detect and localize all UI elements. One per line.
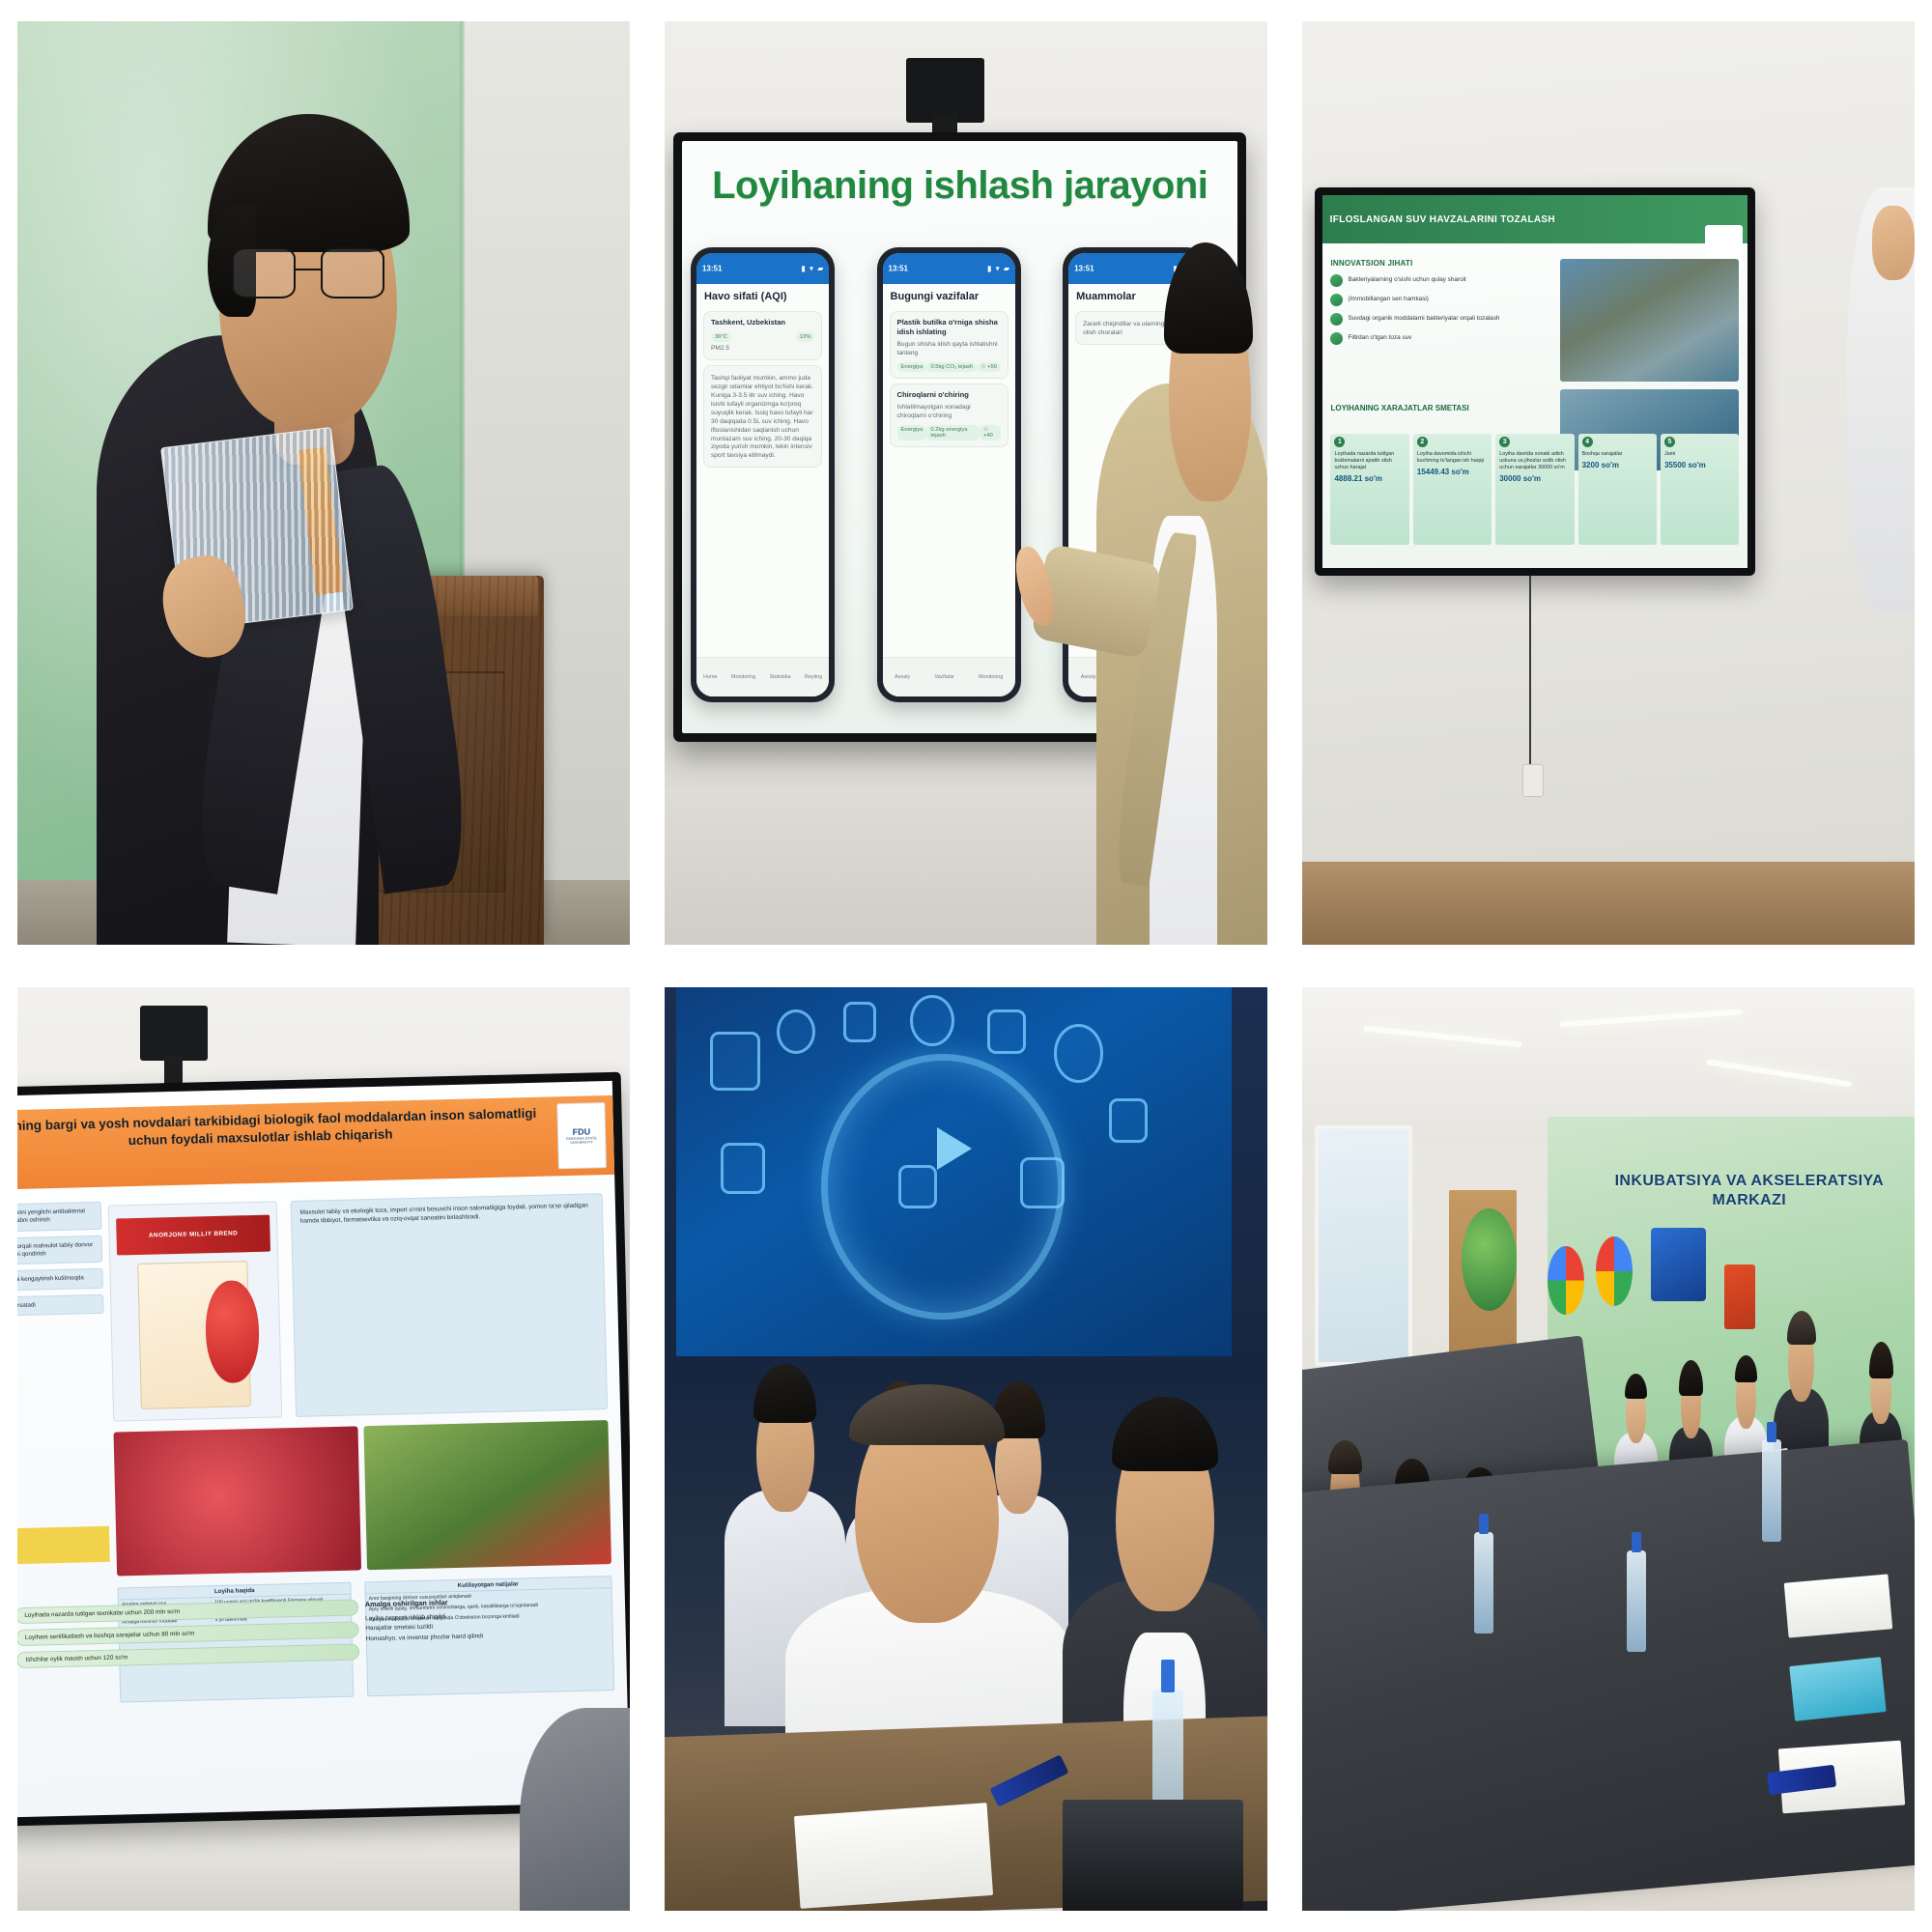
background-display bbox=[676, 987, 1231, 1356]
brand-banner: ANORJON® MILLIY BREND bbox=[116, 1214, 270, 1255]
phone-status-bar: 13:51 ▮ ▾ ▰ bbox=[696, 253, 829, 284]
budget-pill-text: Loyihada nazarda tutilgan texnikalar uch… bbox=[17, 1599, 358, 1624]
left-info-block: Tabiiy tozaomuhietni yengilchi antibakte… bbox=[17, 1201, 102, 1232]
task-title: Plastik butilka o'rniga shisha idish ish… bbox=[897, 318, 1001, 338]
glasses-lens-left bbox=[232, 247, 297, 298]
innovation-item-text: Filtrdan o'tgan toza suv bbox=[1348, 334, 1411, 342]
status-icons: ▮ ▾ ▰ bbox=[987, 265, 1010, 273]
cost-step: 4 Boshqa xarajatlar 3200 so'm bbox=[1578, 434, 1657, 546]
step-label: Loyiha davomida ishchi kuchining to'lang… bbox=[1417, 451, 1488, 465]
innovation-item: Bakteriyalarning o'sishi uchun qulay sha… bbox=[1330, 274, 1551, 287]
chip-savings: 0.2kg energiya tejash bbox=[926, 425, 980, 440]
product-image-box: ANORJON® MILLIY BREND bbox=[108, 1201, 282, 1421]
slide-header-text: IFLOSLANGAN SUV HAVZALARINI TOZALASH bbox=[1330, 214, 1555, 225]
step-number: 4 bbox=[1582, 437, 1593, 447]
budget-pill-text: Ishchilar oylik maosh uchun 120 so'm bbox=[17, 1643, 359, 1668]
aqi-advice-card: Tashqi faoliyat mumkin, ammo juda sezgir… bbox=[703, 365, 822, 468]
budget-pill-text: Loyihani sertifikatlash va boshqa xaraja… bbox=[17, 1621, 359, 1646]
collage-cell-3: IFLOSLANGAN SUV HAVZALARINI TOZALASH INN… bbox=[1285, 0, 1932, 966]
left-info-block: Amalga oshirish orqali mahsulot tabiiy d… bbox=[17, 1235, 103, 1265]
nav-item-home[interactable]: Home bbox=[703, 674, 717, 680]
laptop bbox=[1063, 1800, 1243, 1911]
budget-pill-list: Loyihada nazarda tutilgan texnikalar uch… bbox=[17, 1599, 363, 1795]
paper-sheet bbox=[794, 1803, 993, 1908]
collage-cell-5 bbox=[647, 966, 1285, 1932]
chrome-logo-icon bbox=[1548, 1246, 1584, 1316]
presenter-pointing bbox=[1038, 206, 1267, 945]
leaf-logo-icon bbox=[1462, 1208, 1517, 1310]
step-number: 3 bbox=[1499, 437, 1510, 447]
partial-hand-right bbox=[1872, 206, 1915, 279]
pomegranate-icon bbox=[205, 1279, 261, 1383]
left-info-column: Tabiiy tozaomuhietni yengilchi antibakte… bbox=[17, 1201, 110, 1565]
step-label: Boshqa xarajatlar bbox=[1582, 451, 1653, 458]
interior-window bbox=[1315, 1125, 1412, 1366]
step-number: 2 bbox=[1417, 437, 1428, 447]
left-info-block: Ishlab chiqarishni kengaytirish kutilmoq… bbox=[17, 1268, 103, 1292]
slide-title: Loyihaning ishlash jarayoni bbox=[682, 164, 1237, 208]
task-subtitle: Ishlatilmayotgan xonadagi chiroqlarni o'… bbox=[897, 404, 1001, 421]
slide-header-bar: IFLOSLANGAN SUV HAVZALARINI TOZALASH bbox=[1322, 195, 1747, 243]
yellow-highlight-band bbox=[17, 1525, 110, 1565]
innovation-item-text: Bakteriyalarning o'sishi uchun qulay sha… bbox=[1348, 276, 1465, 284]
collage-cell-1 bbox=[0, 0, 647, 966]
collage-cell-6: INKUBATSIYA VA AKSELERATSIYA MARKAZI bbox=[1285, 966, 1932, 1932]
camera-icon bbox=[710, 1032, 760, 1091]
status-time: 13:51 bbox=[889, 265, 908, 273]
glow-ring-decoration bbox=[821, 1054, 1065, 1320]
wall-banner-text: INKUBATSIYA VA AKSELERATSIYA MARKAZI bbox=[1596, 1172, 1902, 1264]
task-card-2[interactable]: Chiroqlarni o'chiring Ishlatilmayotgan x… bbox=[890, 384, 1009, 447]
step-number: 5 bbox=[1664, 437, 1675, 447]
chip-energy: Energiya bbox=[897, 362, 927, 372]
chip-points-star-icon: ☆ +50 bbox=[977, 362, 1001, 372]
blue-folder bbox=[1789, 1657, 1887, 1721]
phone-status-bar: 13:51 ▮ ▾ ▰ bbox=[883, 253, 1015, 284]
nav-item-stats[interactable]: Statistika bbox=[770, 674, 791, 680]
product-photos bbox=[114, 1420, 611, 1577]
step-value: 35500 so'm bbox=[1664, 461, 1735, 469]
nav-item-rating[interactable]: Reyting bbox=[805, 674, 822, 680]
photo-collage: Loyihaning ishlash jarayoni 13:51 ▮ ▾ ▰ … bbox=[0, 0, 1932, 1932]
innovation-section: INNOVATSION JIHATI Bakteriyalarning o'si… bbox=[1330, 259, 1551, 345]
task-card-1[interactable]: Plastik butilka o'rniga shisha idish ish… bbox=[890, 311, 1009, 379]
www-logo-icon bbox=[1651, 1228, 1706, 1301]
cost-steps: 1 Loyihada nazarda tutilgan buklemalarni… bbox=[1330, 434, 1739, 546]
aqi-location: Tashkent, Uzbekistan bbox=[711, 318, 814, 327]
logo-subtitle: FERGANA STATE UNIVERSITY bbox=[558, 1136, 606, 1145]
seated-hair bbox=[1328, 1440, 1362, 1474]
innovation-item: (Immobillangan sen hamkasi) bbox=[1330, 294, 1551, 306]
clean-water-icon bbox=[1330, 332, 1343, 345]
step-value: 30000 so'm bbox=[1499, 474, 1570, 483]
logo-initials: FDU bbox=[572, 1126, 590, 1136]
wrench-icon bbox=[721, 1143, 765, 1195]
photo-speaker-at-podium bbox=[17, 21, 630, 945]
phone-mockup-aqi: 13:51 ▮ ▾ ▰ Havo sifati (AQI) Tashkent, … bbox=[691, 247, 835, 702]
wall-socket bbox=[1522, 764, 1544, 797]
glasses-lens-right bbox=[321, 247, 385, 298]
cost-step-total: 5 Jami 35500 so'm bbox=[1661, 434, 1739, 546]
nav-item-monitoring[interactable]: Monitoring bbox=[979, 674, 1003, 680]
document-icon bbox=[843, 1002, 876, 1042]
pomegranate-tea-photo bbox=[114, 1426, 361, 1576]
phone-screen: 13:51 ▮ ▾ ▰ Bugungi vazifalar Plastik bu… bbox=[883, 253, 1015, 696]
presenter-hair bbox=[1787, 1311, 1816, 1345]
pomegranate-tree-photo bbox=[363, 1420, 611, 1570]
cost-step: 3 Loyiha davrida xonaki adish uskuna va … bbox=[1495, 434, 1574, 546]
step-label: Jami bbox=[1664, 451, 1735, 458]
bacteria-icon bbox=[1330, 274, 1343, 287]
step-value: 15449.43 so'm bbox=[1417, 468, 1488, 476]
screen-ceiling-mount bbox=[906, 58, 984, 123]
attendee-hair bbox=[1735, 1355, 1757, 1382]
chip-points-star-icon: ☆ +40 bbox=[980, 425, 1001, 440]
aqi-card: Tashkent, Uzbekistan 36°C 12% PM2.5 bbox=[703, 311, 822, 360]
step-label: Loyiha davrida xonaki adish uskuna va ji… bbox=[1499, 451, 1570, 471]
jury-hair bbox=[849, 1384, 1006, 1445]
wall-display-frame: IFLOSLANGAN SUV HAVZALARINI TOZALASH INN… bbox=[1315, 187, 1755, 576]
nav-item-main[interactable]: Asosiy bbox=[895, 674, 910, 680]
presentation-display: Anorning bargi va yosh novdalari tarkibi… bbox=[17, 1080, 630, 1817]
cost-section-title: LOYIHANING XARAJATLAR SMETASI bbox=[1330, 404, 1468, 412]
task-subtitle: Bugun shisha idish qayta ishlatishni tan… bbox=[897, 341, 1001, 358]
circle-icon bbox=[910, 995, 954, 1047]
wooden-floor bbox=[1302, 862, 1915, 945]
innovation-item-text: (Immobillangan sen hamkasi) bbox=[1348, 296, 1428, 303]
attendee-hair bbox=[1625, 1374, 1647, 1400]
innovation-item: Filtrdan o'tgan toza suv bbox=[1330, 332, 1551, 345]
water-bottle bbox=[1762, 1439, 1781, 1541]
document-tab bbox=[298, 447, 342, 596]
step-value: 4888.21 so'm bbox=[1334, 474, 1405, 483]
paper-sheet bbox=[1784, 1574, 1892, 1638]
photo-water-purification-slide: IFLOSLANGAN SUV HAVZALARINI TOZALASH INN… bbox=[1302, 21, 1915, 945]
wall-display: IFLOSLANGAN SUV HAVZALARINI TOZALASH INN… bbox=[1322, 195, 1747, 568]
task-chips: Energiya 0.2kg energiya tejash ☆ +40 bbox=[897, 425, 1001, 440]
play-icon bbox=[937, 1127, 972, 1170]
globe-icon bbox=[1054, 1024, 1104, 1083]
phone-screen: 13:51 ▮ ▾ ▰ Havo sifati (AQI) Tashkent, … bbox=[696, 253, 829, 696]
left-info-block: Ilmiy ishlarini ko'rsatadi bbox=[17, 1293, 104, 1317]
glasses-bridge bbox=[296, 269, 320, 270]
budget-pill: Loyihani sertifikatlash va boshqa xaraja… bbox=[17, 1621, 359, 1646]
phone-header-aqi: Havo sifati (AQI) bbox=[696, 284, 829, 306]
task-title: Chiroqlarni o'chiring bbox=[897, 390, 1001, 400]
droplet-icon bbox=[1330, 294, 1343, 306]
status-icons: ▮ ▾ ▰ bbox=[801, 265, 824, 273]
photo-mobile-app-presentation: Loyihaning ishlash jarayoni 13:51 ▮ ▾ ▰ … bbox=[665, 21, 1267, 945]
collage-cell-4: Anorning bargi va yosh novdalari tarkibi… bbox=[0, 966, 647, 1932]
innovation-item: Suvdagi organik moddalarni bakteriyalar … bbox=[1330, 313, 1551, 326]
attendee-hair bbox=[1869, 1342, 1893, 1378]
chip-co2: 0.5kg CO₂ tejash bbox=[926, 362, 977, 372]
phone-mockup-tasks: 13:51 ▮ ▾ ▰ Bugungi vazifalar Plastik bu… bbox=[877, 247, 1021, 702]
chip-energy: Energiya bbox=[897, 425, 927, 440]
aqi-pm-label: PM2.5 bbox=[711, 345, 814, 354]
html5-logo-icon bbox=[1724, 1264, 1755, 1329]
innovation-item-text: Suvdagi organik moddalarni bakteriyalar … bbox=[1348, 315, 1499, 323]
humidity-icon: 12% bbox=[796, 332, 815, 342]
globe-icon bbox=[777, 1009, 815, 1054]
photo-audience-and-jury bbox=[665, 987, 1267, 1911]
water-bottle bbox=[1474, 1532, 1493, 1634]
budget-pill: Loyihada nazarda tutilgan texnikalar uch… bbox=[17, 1599, 358, 1624]
photo-pomegranate-slide: Anorning bargi va yosh novdalari tarkibi… bbox=[17, 987, 630, 1911]
product-description: Maxsulot tabiiy va ekologik toza, import… bbox=[290, 1193, 607, 1417]
university-logo: FDU FERGANA STATE UNIVERSITY bbox=[556, 1102, 607, 1168]
phone-header-tasks: Bugungi vazifalar bbox=[883, 284, 1015, 306]
step-label: Loyihada nazarda tutilgan buklemalarni a… bbox=[1334, 451, 1405, 471]
task-chips: Energiya 0.5kg CO₂ tejash ☆ +50 bbox=[897, 362, 1001, 372]
cost-step: 2 Loyiha davomida ishchi kuchining to'la… bbox=[1413, 434, 1492, 546]
photo-conference-room: INKUBATSIYA VA AKSELERATSIYA MARKAZI bbox=[1302, 987, 1915, 1911]
person-hair bbox=[1112, 1397, 1218, 1472]
thermometer-icon: 36°C bbox=[711, 332, 731, 342]
aqi-advice-text: Tashqi faoliyat mumkin, ammo juda sezgir… bbox=[711, 375, 814, 461]
status-time: 13:51 bbox=[702, 265, 722, 273]
grid-icon bbox=[987, 1009, 1026, 1054]
browser-logo-icon bbox=[1596, 1236, 1633, 1306]
phone-bottom-nav[interactable]: Asosiy Vazifalar Monitoring bbox=[883, 657, 1015, 696]
phone-bottom-nav[interactable]: Home Monitoring Statistika Reyting bbox=[696, 657, 829, 696]
nav-item-tasks[interactable]: Vazifalar bbox=[934, 674, 954, 680]
nav-item-monitoring[interactable]: Monitoring bbox=[731, 674, 755, 680]
slide-title: Anorning bargi va yosh novdalari tarkibi… bbox=[17, 1094, 614, 1190]
glasses-icon bbox=[232, 247, 385, 298]
step-number: 1 bbox=[1334, 437, 1345, 447]
attendee-hair bbox=[1679, 1360, 1703, 1395]
polluted-water-photo bbox=[1560, 259, 1739, 382]
step-value: 3200 so'm bbox=[1582, 461, 1653, 469]
water-bottle bbox=[1627, 1550, 1646, 1652]
filter-icon bbox=[1330, 313, 1343, 326]
budget-pill: Ishchilar oylik maosh uchun 120 so'm bbox=[17, 1643, 359, 1668]
collage-cell-2: Loyihaning ishlash jarayoni 13:51 ▮ ▾ ▰ … bbox=[647, 0, 1285, 966]
presentation-display-frame: Anorning bargi va yosh novdalari tarkibi… bbox=[17, 1071, 630, 1826]
presenter-hair bbox=[1164, 242, 1253, 354]
aqi-metrics: 36°C 12% bbox=[711, 332, 814, 342]
cube-icon bbox=[1109, 1098, 1148, 1143]
screen-ceiling-mount bbox=[140, 1006, 208, 1061]
innovation-title: INNOVATSION JIHATI bbox=[1330, 259, 1551, 268]
cost-step: 1 Loyihada nazarda tutilgan buklemalarni… bbox=[1330, 434, 1408, 546]
